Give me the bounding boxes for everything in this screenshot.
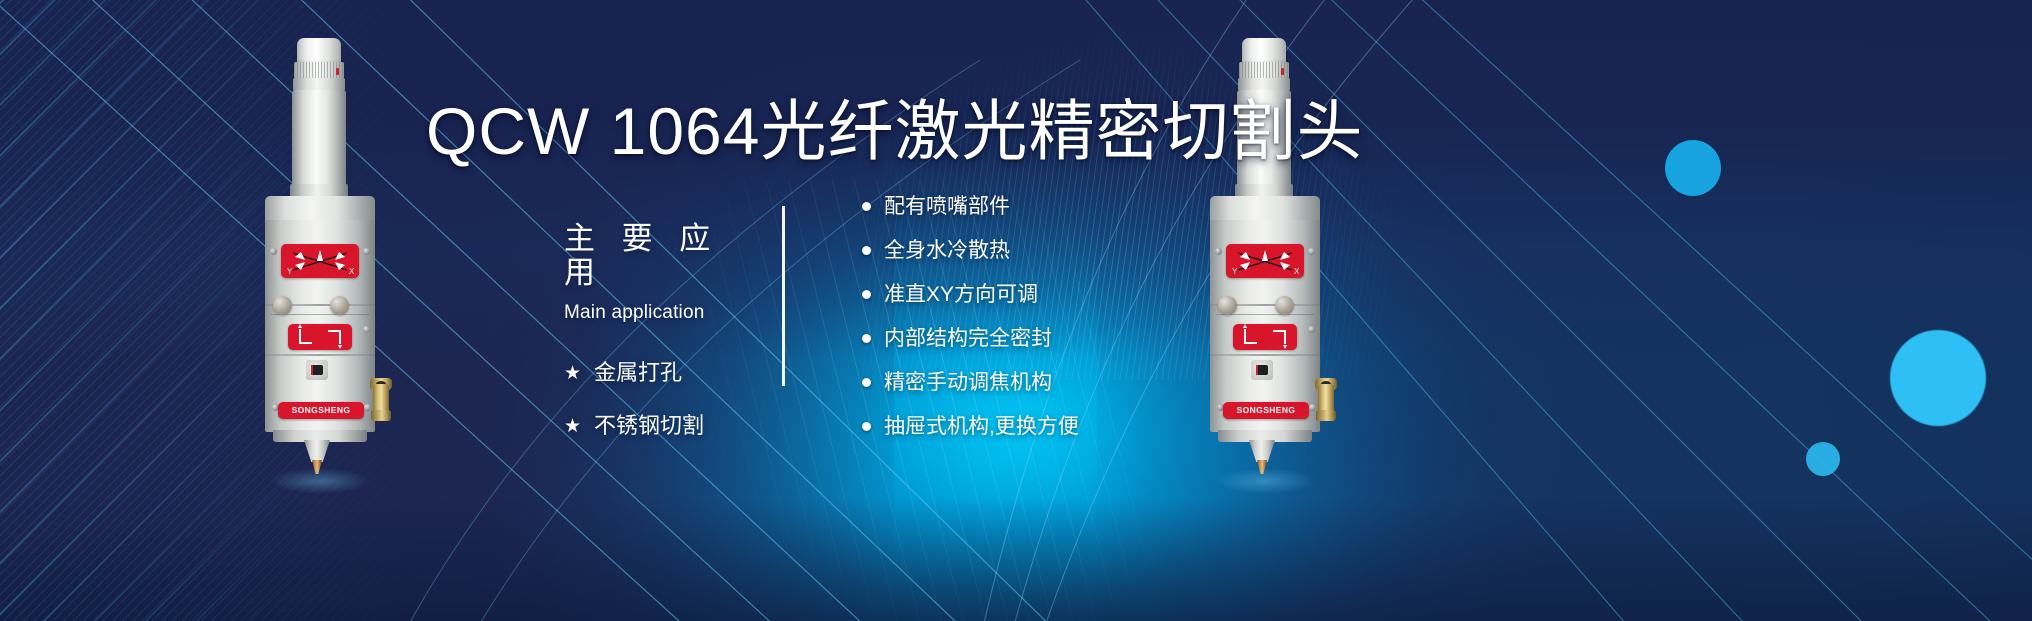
product-brand-text: SONGSHENG: [1237, 406, 1296, 415]
product-seam-lower: [265, 354, 375, 356]
axis-arrow-diagram: Y X: [1226, 244, 1304, 278]
product-screw-right: [363, 248, 370, 255]
bullet-dot-icon: [862, 290, 871, 299]
main-application-block: 主 要 应 用 Main application ★ 金属打孔 ★ 不锈钢切割: [564, 222, 774, 468]
product-viewport-indicator: [1256, 365, 1258, 375]
list-item: 内部结构完全密封: [862, 328, 1079, 349]
vertical-divider: [782, 206, 785, 386]
application-label: 不锈钢切割: [594, 415, 704, 437]
star-icon: ★: [564, 417, 581, 436]
product-screw-right: [1308, 248, 1315, 255]
svg-text:Y: Y: [1232, 267, 1238, 276]
product-upper-tube: [292, 90, 346, 198]
product-screw-brand-right: [364, 404, 371, 411]
svg-text:Y: Y: [287, 267, 293, 276]
product-cap-lid: [1242, 38, 1286, 64]
product-viewport-indicator: [311, 365, 313, 375]
star-icon: ★: [564, 364, 581, 383]
product-red-marker: [336, 68, 339, 75]
product-base-glow: [270, 468, 370, 494]
lr-arrow-diagram: [288, 324, 352, 350]
feature-label: 抽屉式机构,更换方便: [884, 416, 1079, 437]
product-axis-label: Y X: [1226, 244, 1304, 278]
list-item: 配有喷嘴部件: [862, 196, 1079, 217]
product-axis-label: Y X: [281, 244, 359, 278]
bullet-dot-icon: [862, 246, 871, 255]
product-screw-brand-right: [1309, 404, 1316, 411]
decor-circle-small: [1665, 140, 1721, 196]
list-item: 全身水冷散热: [862, 240, 1079, 261]
axis-arrow-diagram: Y X: [281, 244, 359, 278]
feature-list: 配有喷嘴部件 全身水冷散热 准直XY方向可调 内部结构完全密封 精密手动调焦机构…: [862, 196, 1079, 460]
main-application-heading-en: Main application: [564, 302, 774, 324]
feature-label: 全身水冷散热: [884, 240, 1010, 261]
product-shoulder: [265, 196, 375, 222]
product-direction-label: [288, 324, 352, 350]
list-item: 抽屉式机构,更换方便: [862, 416, 1079, 437]
feature-label: 精密手动调焦机构: [884, 372, 1052, 393]
product-red-marker: [1281, 68, 1284, 75]
product-adjust-knob-left: [1218, 296, 1237, 315]
svg-text:X: X: [1294, 267, 1300, 276]
product-base-glow: [1215, 468, 1315, 494]
bullet-dot-icon: [862, 202, 871, 211]
lr-arrow-diagram: [1233, 324, 1297, 350]
product-screw-left: [270, 248, 277, 255]
product-cap-lid: [297, 38, 341, 64]
product-shoulder: [1210, 196, 1320, 222]
product-screw-mid: [1308, 326, 1315, 333]
list-item: ★ 金属打孔: [564, 362, 774, 384]
product-banner: Y X SONGSHENG: [0, 0, 2032, 621]
product-adjust-knob-left: [273, 296, 292, 315]
feature-label: 准直XY方向可调: [884, 284, 1038, 305]
feature-label: 配有喷嘴部件: [884, 196, 1010, 217]
product-seam-lower: [1210, 354, 1320, 356]
product-brand-label: SONGSHENG: [1223, 402, 1309, 419]
main-application-heading-cn: 主 要 应 用: [564, 222, 774, 290]
svg-text:X: X: [349, 267, 355, 276]
banner-title: QCW 1064光纤激光精密切割头: [426, 98, 1363, 164]
product-direction-label: [1233, 324, 1297, 350]
product-brand-text: SONGSHENG: [292, 406, 351, 415]
bullet-dot-icon: [862, 378, 871, 387]
application-label: 金属打孔: [594, 362, 682, 384]
bullet-dot-icon: [862, 334, 871, 343]
bullet-dot-icon: [862, 422, 871, 431]
decor-circle-tiny: [1806, 442, 1840, 476]
product-gas-fitting-elbow: [371, 410, 391, 421]
laser-cutting-head-left: Y X SONGSHENG: [240, 38, 400, 458]
product-adjust-knob-right: [1275, 296, 1294, 315]
product-screw-mid: [363, 326, 370, 333]
list-item: 准直XY方向可调: [862, 284, 1079, 305]
product-adjust-knob-right: [330, 296, 349, 315]
product-brand-label: SONGSHENG: [278, 402, 364, 419]
product-screw-left: [1215, 248, 1222, 255]
decor-circle-large: [1890, 330, 1986, 426]
application-list: ★ 金属打孔 ★ 不锈钢切割: [564, 362, 774, 437]
product-gas-fitting-elbow: [1316, 410, 1336, 421]
list-item: ★ 不锈钢切割: [564, 415, 774, 437]
feature-label: 内部结构完全密封: [884, 328, 1052, 349]
list-item: 精密手动调焦机构: [862, 372, 1079, 393]
